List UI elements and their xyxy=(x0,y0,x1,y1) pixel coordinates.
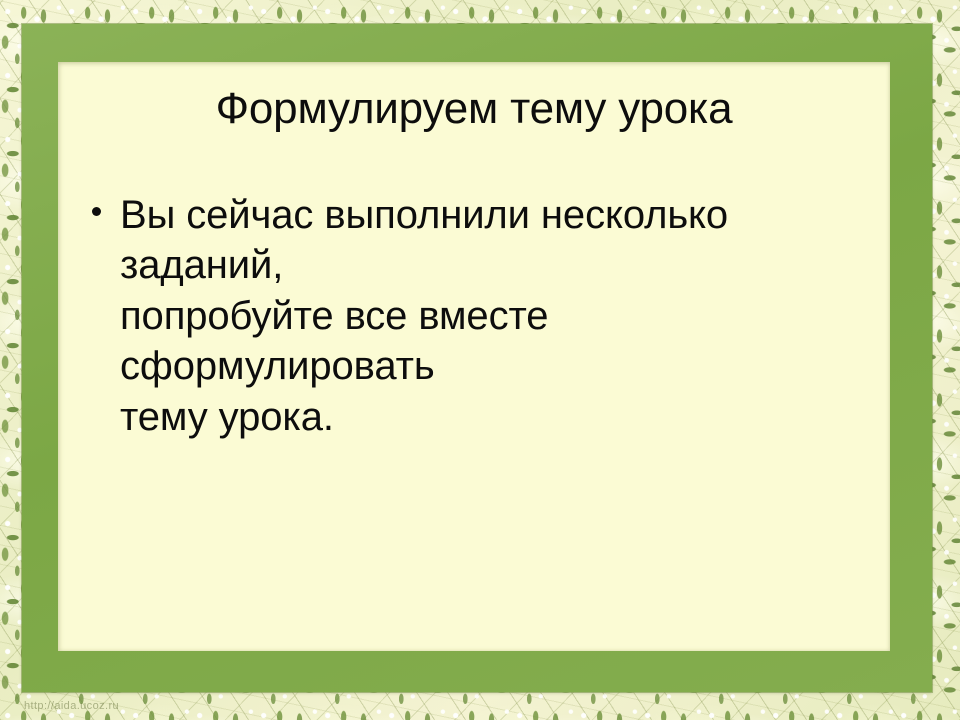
slide-title: Формулируем тему урока xyxy=(58,84,890,133)
green-frame-band: Формулируем тему урока Вы сейчас выполни… xyxy=(22,24,932,692)
presentation-slide: Формулируем тему урока Вы сейчас выполни… xyxy=(0,0,960,720)
bullet-line-3: тему урока. xyxy=(120,392,850,442)
bullet-list: Вы сейчас выполнили несколько заданий, п… xyxy=(82,190,850,442)
list-item: Вы сейчас выполнили несколько заданий, п… xyxy=(82,190,850,442)
slide-content-panel: Формулируем тему урока Вы сейчас выполни… xyxy=(58,62,890,651)
bullet-line-2: попробуйте все вместе сформулировать xyxy=(120,291,850,392)
bullet-dot-icon xyxy=(92,207,101,216)
bullet-line-1: Вы сейчас выполнили несколько заданий, xyxy=(120,190,850,291)
